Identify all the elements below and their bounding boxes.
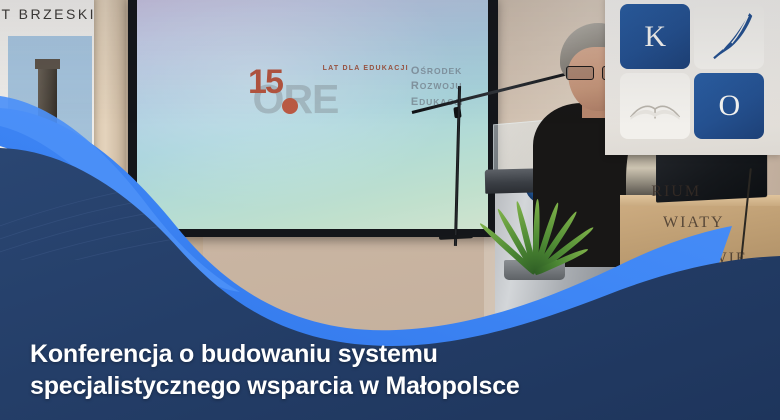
- title-line-2: specjalistycznego wsparcia w Małopolsce: [30, 370, 630, 402]
- castle-tower: [38, 67, 57, 129]
- wall-text-line-1: RIUM: [651, 183, 701, 201]
- banner-photo: [8, 36, 92, 166]
- ko-logo-grid: K O: [620, 4, 764, 138]
- quill-pen-icon: [703, 9, 758, 64]
- ko-cell-book: [620, 73, 690, 138]
- banner-script-text: wacaé!: [16, 130, 94, 145]
- ko-cell-letter-o: O: [694, 73, 764, 138]
- banner-heading: T BRZESKI: [0, 6, 98, 22]
- potted-plant: [476, 164, 593, 273]
- ore-logo: ORE 15 LAT DLA EDUKACJI OŚRODEK ROZWOJU …: [248, 61, 474, 132]
- banner-footer-text: ...BRZESKI: [8, 176, 94, 182]
- conference-photo-card: ORE 15 LAT DLA EDUKACJI OŚRODEK ROZWOJU …: [0, 0, 780, 420]
- wall-text-line-3: AKOWIE: [671, 250, 748, 268]
- wall-text-line-2: WIATY: [663, 214, 725, 232]
- overlay-title: Konferencja o budowaniu systemu specjali…: [30, 338, 630, 402]
- anniversary-tagline: LAT DLA EDUKACJI: [323, 65, 409, 72]
- anniversary-dot-icon: [282, 98, 298, 114]
- org-line-1: OŚRODEK: [411, 64, 463, 80]
- ko-cell-letter-k: K: [620, 4, 690, 69]
- door-jamb: [92, 0, 126, 260]
- ko-letter-k: K: [620, 4, 690, 69]
- ko-cell-quill: [694, 4, 764, 69]
- anniversary-number: 15: [248, 65, 282, 99]
- open-book-icon: [627, 90, 683, 123]
- side-table: [620, 195, 780, 287]
- ko-letter-o: O: [694, 73, 764, 138]
- org-line-2: ROZWOJU: [411, 79, 463, 95]
- title-line-1: Konferencja o budowaniu systemu: [30, 338, 630, 370]
